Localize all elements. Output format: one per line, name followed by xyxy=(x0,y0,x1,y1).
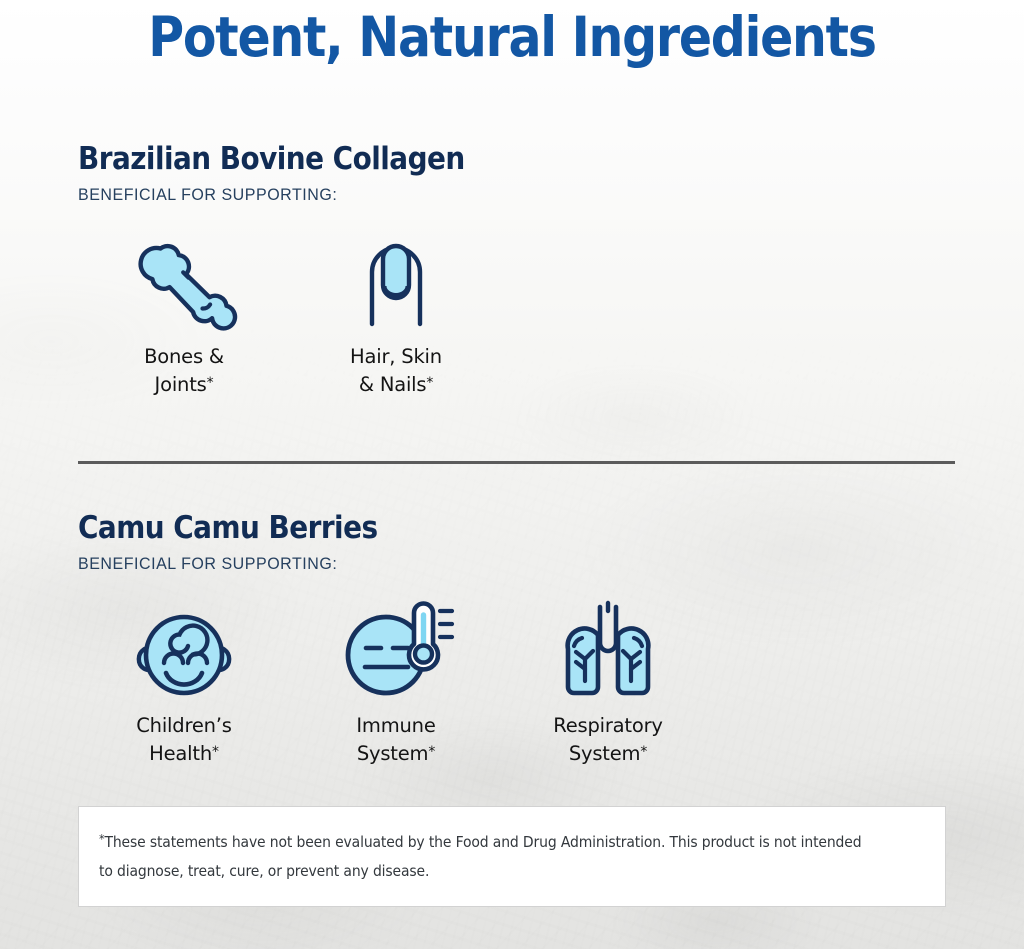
asterisk-marker: * xyxy=(212,744,219,760)
lungs-icon xyxy=(553,601,663,697)
asterisk-marker: * xyxy=(426,375,433,391)
benefit-item-hair-skin-nails: Hair, Skin & Nails* xyxy=(290,232,502,398)
disclaimer-box: *These statements have not been evaluate… xyxy=(78,806,946,907)
benefit-list: Children’s Health* xyxy=(78,601,714,767)
asterisk-marker: * xyxy=(207,375,214,391)
disclaimer-text: *These statements have not been evaluate… xyxy=(99,825,867,886)
ingredients-infographic-page: Potent, Natural Ingredients Brazilian Bo… xyxy=(0,0,1024,949)
section-subtitle: BENEFICIAL FOR SUPPORTING: xyxy=(78,553,695,575)
baby-face-icon xyxy=(128,601,240,697)
section-divider xyxy=(78,461,955,464)
section-title: Camu Camu Berries xyxy=(78,509,650,547)
asterisk-marker: * xyxy=(640,744,647,760)
fingernail-icon xyxy=(356,232,436,328)
page-content: Potent, Natural Ingredients Brazilian Bo… xyxy=(0,0,1024,949)
benefit-label-text: Immune System xyxy=(356,714,435,765)
disclaimer-body: These statements have not been evaluated… xyxy=(99,833,861,880)
section-camu-camu-berries: Camu Camu Berries BENEFICIAL FOR SUPPORT… xyxy=(78,509,714,767)
section-subtitle: BENEFICIAL FOR SUPPORTING: xyxy=(78,184,495,206)
benefit-item-bones-joints: Bones & Joints* xyxy=(78,232,290,398)
bone-icon xyxy=(136,232,232,328)
section-title: Brazilian Bovine Collagen xyxy=(78,140,465,178)
section-brazilian-bovine-collagen: Brazilian Bovine Collagen BENEFICIAL FOR… xyxy=(78,140,508,398)
benefit-item-childrens-health: Children’s Health* xyxy=(78,601,290,767)
benefit-list: Bones & Joints* Hair, Skin & Nails* xyxy=(78,232,508,398)
benefit-label: Respiratory System* xyxy=(553,712,663,767)
asterisk-marker: * xyxy=(428,744,435,760)
benefit-label: Hair, Skin & Nails* xyxy=(350,343,442,398)
benefit-item-respiratory-system: Respiratory System* xyxy=(502,601,714,767)
page-title: Potent, Natural Ingredients xyxy=(56,6,967,68)
benefit-label: Bones & Joints* xyxy=(144,343,224,398)
sick-face-thermometer-icon xyxy=(338,601,454,697)
benefit-label: Immune System* xyxy=(356,712,435,767)
benefit-label: Children’s Health* xyxy=(136,712,232,767)
benefit-item-immune-system: Immune System* xyxy=(290,601,502,767)
